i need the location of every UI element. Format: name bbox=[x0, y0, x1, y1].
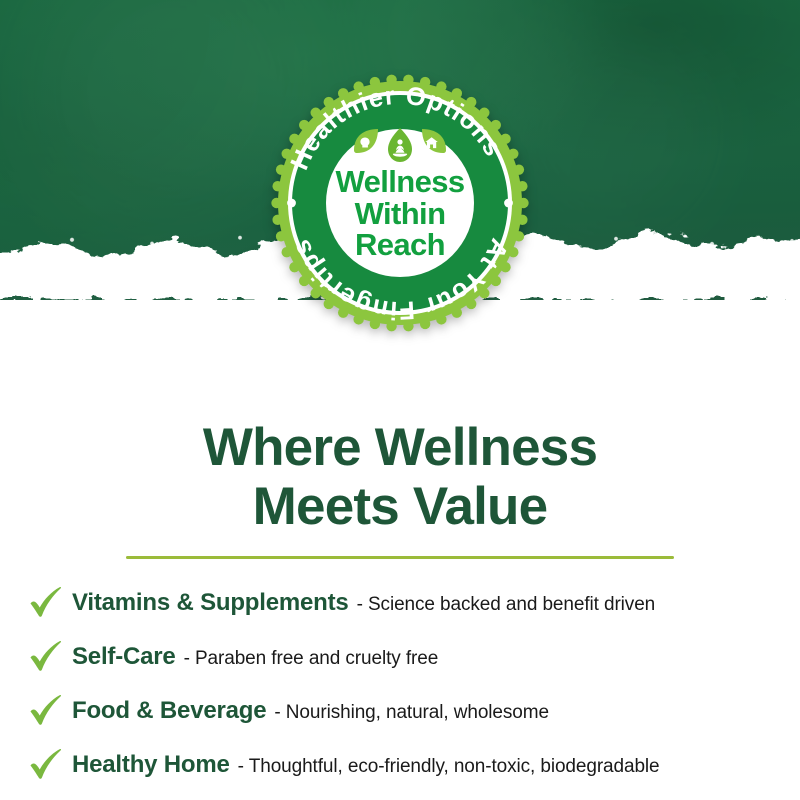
check-icon bbox=[26, 637, 66, 677]
feature-description: - Thoughtful, eco-friendly, non-toxic, b… bbox=[238, 756, 660, 778]
feature-title: Healthy Home bbox=[72, 751, 230, 779]
feature-text: Food & Beverage - Nourishing, natural, w… bbox=[72, 697, 549, 725]
feature-text: Vitamins & Supplements - Science backed … bbox=[72, 589, 655, 617]
page-title: Where Wellness Meets Value bbox=[0, 418, 800, 537]
check-icon bbox=[26, 583, 66, 623]
feature-title: Food & Beverage bbox=[72, 697, 266, 725]
list-item: Food & Beverage - Nourishing, natural, w… bbox=[26, 684, 784, 738]
feature-list: Vitamins & Supplements - Science backed … bbox=[26, 576, 784, 792]
list-item: Healthy Home - Thoughtful, eco-friendly,… bbox=[26, 738, 784, 792]
badge-icon-trio bbox=[352, 128, 448, 164]
badge-dot-right bbox=[504, 199, 513, 208]
check-icon bbox=[26, 691, 66, 731]
title-divider bbox=[126, 556, 674, 559]
list-item: Vitamins & Supplements - Science backed … bbox=[26, 576, 784, 630]
promotional-poster: Healthier Options At Your Fingertips bbox=[0, 0, 800, 800]
leaf-head-icon bbox=[354, 129, 382, 153]
feature-text: Healthy Home - Thoughtful, eco-friendly,… bbox=[72, 751, 660, 779]
leaf-home-icon bbox=[422, 129, 446, 153]
wellness-badge: Healthier Options At Your Fingertips bbox=[267, 70, 533, 336]
feature-title: Self-Care bbox=[72, 643, 176, 671]
feature-description: - Science backed and benefit driven bbox=[357, 594, 656, 616]
headline-line-1: Where Wellness bbox=[0, 418, 800, 477]
badge-dot-left bbox=[287, 199, 296, 208]
leaf-meditation-icon bbox=[388, 128, 412, 162]
check-icon bbox=[26, 745, 66, 785]
feature-title: Vitamins & Supplements bbox=[72, 589, 349, 617]
feature-text: Self-Care - Paraben free and cruelty fre… bbox=[72, 643, 438, 671]
list-item: Self-Care - Paraben free and cruelty fre… bbox=[26, 630, 784, 684]
feature-description: - Paraben free and cruelty free bbox=[184, 648, 439, 670]
feature-description: - Nourishing, natural, wholesome bbox=[274, 702, 549, 724]
headline-line-2: Meets Value bbox=[0, 477, 800, 536]
